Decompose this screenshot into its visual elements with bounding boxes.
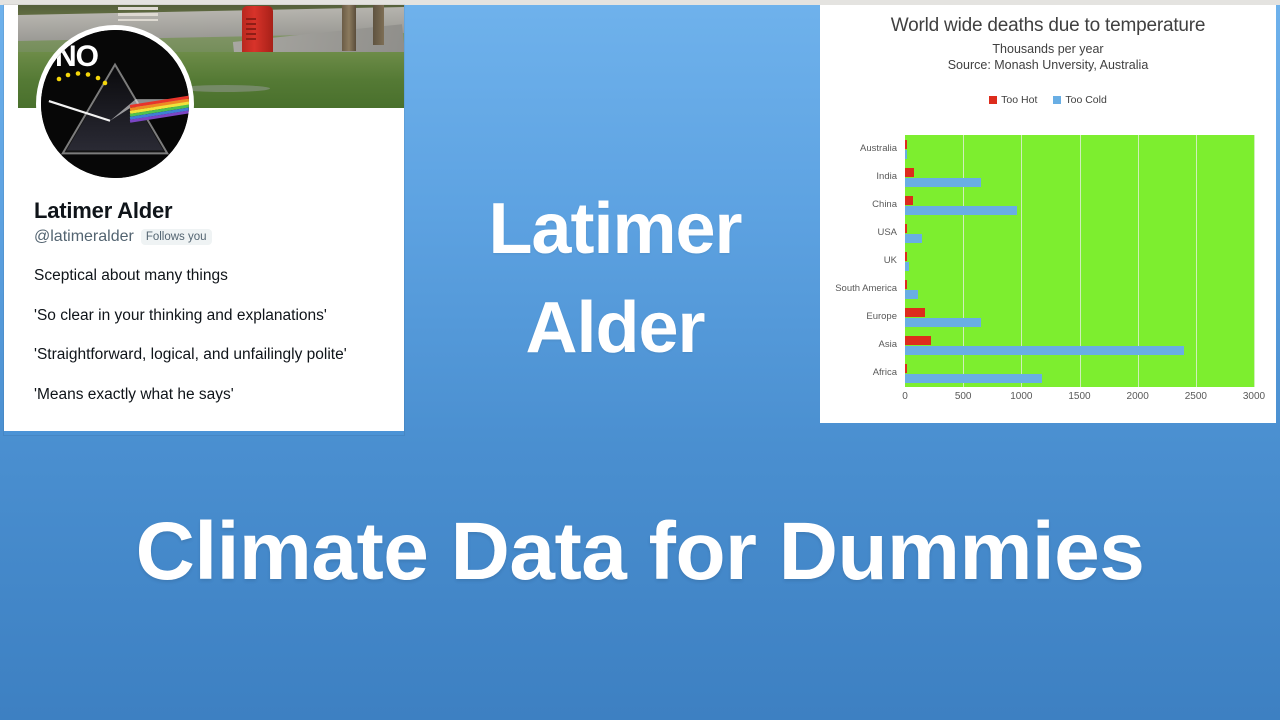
legend-label-too-cold: Too Cold (1065, 94, 1106, 106)
x-axis-tick-label: 0 (902, 391, 908, 402)
x-axis-tick-label: 3000 (1243, 391, 1265, 402)
center-title: Latimer Alder (410, 180, 820, 379)
chart-category-row: Africa (905, 364, 1254, 383)
bar-too-hot (905, 336, 931, 345)
chart-category-label: Asia (879, 340, 897, 349)
bar-too-cold (905, 290, 918, 299)
legend-label-too-hot: Too Hot (1001, 94, 1037, 106)
center-title-line-1: Latimer (410, 180, 820, 279)
chart-legend: Too Hot Too Cold (820, 94, 1276, 106)
banner-tree-left (342, 5, 356, 51)
chart-category-row: UK (905, 252, 1254, 271)
chart-category-label: Europe (866, 312, 897, 321)
bar-too-hot (905, 140, 907, 149)
bar-too-hot (905, 308, 925, 317)
x-axis-tick-label: 1500 (1068, 391, 1090, 402)
slide-headline: Climate Data for Dummies (0, 505, 1280, 599)
x-axis-tick-label: 500 (955, 391, 972, 402)
avatar-no-text: NO (55, 40, 98, 74)
profile-bio-line-4: 'Means exactly what he says' (34, 386, 390, 405)
center-title-line-2: Alder (410, 279, 820, 378)
bar-too-cold (905, 374, 1042, 383)
gridline (1254, 135, 1255, 387)
profile-bio-line-1: Sceptical about many things (34, 267, 390, 286)
banner-postbox (242, 6, 273, 56)
chart-x-axis: 050010001500200025003000 (905, 391, 1254, 413)
avatar[interactable]: NO (36, 25, 194, 183)
banner-puddle (180, 85, 270, 92)
chart-category-label: UK (884, 256, 897, 265)
chart-category-row: Asia (905, 336, 1254, 355)
chart-category-row: Europe (905, 308, 1254, 327)
chart-title: World wide deaths due to temperature (820, 5, 1276, 37)
chart-category-row: China (905, 196, 1254, 215)
bar-too-cold (905, 234, 922, 243)
chart-subtitle: Thousands per year (820, 42, 1276, 56)
profile-handle: @latimeralder (34, 228, 134, 246)
legend-item-too-cold: Too Cold (1053, 94, 1106, 106)
profile-handle-row: @latimeralder Follows you (34, 228, 390, 246)
chart-category-label: South America (835, 284, 897, 293)
chart-category-row: Australia (905, 140, 1254, 159)
bar-too-hot (905, 252, 907, 261)
chart-category-label: China (872, 200, 897, 209)
chart-plot-wrap: AustraliaIndiaChinaUSAUKSouth AmericaEur… (905, 135, 1254, 387)
chart-category-row: South America (905, 280, 1254, 299)
chart-category-label: Australia (860, 144, 897, 153)
follows-you-badge: Follows you (141, 229, 212, 245)
x-axis-tick-label: 2000 (1127, 391, 1149, 402)
bar-too-cold (905, 178, 981, 187)
chart-category-row: USA (905, 224, 1254, 243)
chart-source: Source: Monash Unversity, Australia (820, 58, 1276, 72)
x-axis-tick-label: 1000 (1010, 391, 1032, 402)
slide-background: NO Latimer Alder @latimeralder Follows y… (0, 0, 1280, 720)
chart-panel: World wide deaths due to temperature Tho… (820, 5, 1276, 423)
chart-category-label: USA (877, 228, 897, 237)
legend-swatch-too-cold (1053, 96, 1061, 104)
bar-too-cold (905, 346, 1184, 355)
chart-category-label: India (876, 172, 897, 181)
legend-item-too-hot: Too Hot (989, 94, 1037, 106)
chart-category-row: India (905, 168, 1254, 187)
legend-swatch-too-hot (989, 96, 997, 104)
bar-too-hot (905, 168, 914, 177)
card-bottom-rule (4, 431, 404, 435)
x-axis-tick-label: 2500 (1185, 391, 1207, 402)
profile-display-name: Latimer Alder (34, 198, 390, 224)
profile-bio-line-3: 'Straightforward, logical, and unfailing… (34, 346, 390, 365)
twitter-profile-card: NO Latimer Alder @latimeralder Follows y… (4, 5, 404, 435)
bar-too-cold (905, 318, 981, 327)
bar-too-cold (905, 262, 909, 271)
bar-too-hot (905, 364, 907, 373)
bar-too-cold (905, 150, 907, 159)
banner-gate (118, 7, 158, 21)
bar-too-hot (905, 196, 913, 205)
bar-too-hot (905, 280, 907, 289)
banner-tree-right (373, 5, 384, 45)
profile-bio-line-2: 'So clear in your thinking and explanati… (34, 307, 390, 326)
profile-text-block: Latimer Alder @latimeralder Follows you … (34, 198, 390, 404)
bar-too-hot (905, 224, 907, 233)
chart-category-label: Africa (873, 368, 897, 377)
bar-too-cold (905, 206, 1017, 215)
